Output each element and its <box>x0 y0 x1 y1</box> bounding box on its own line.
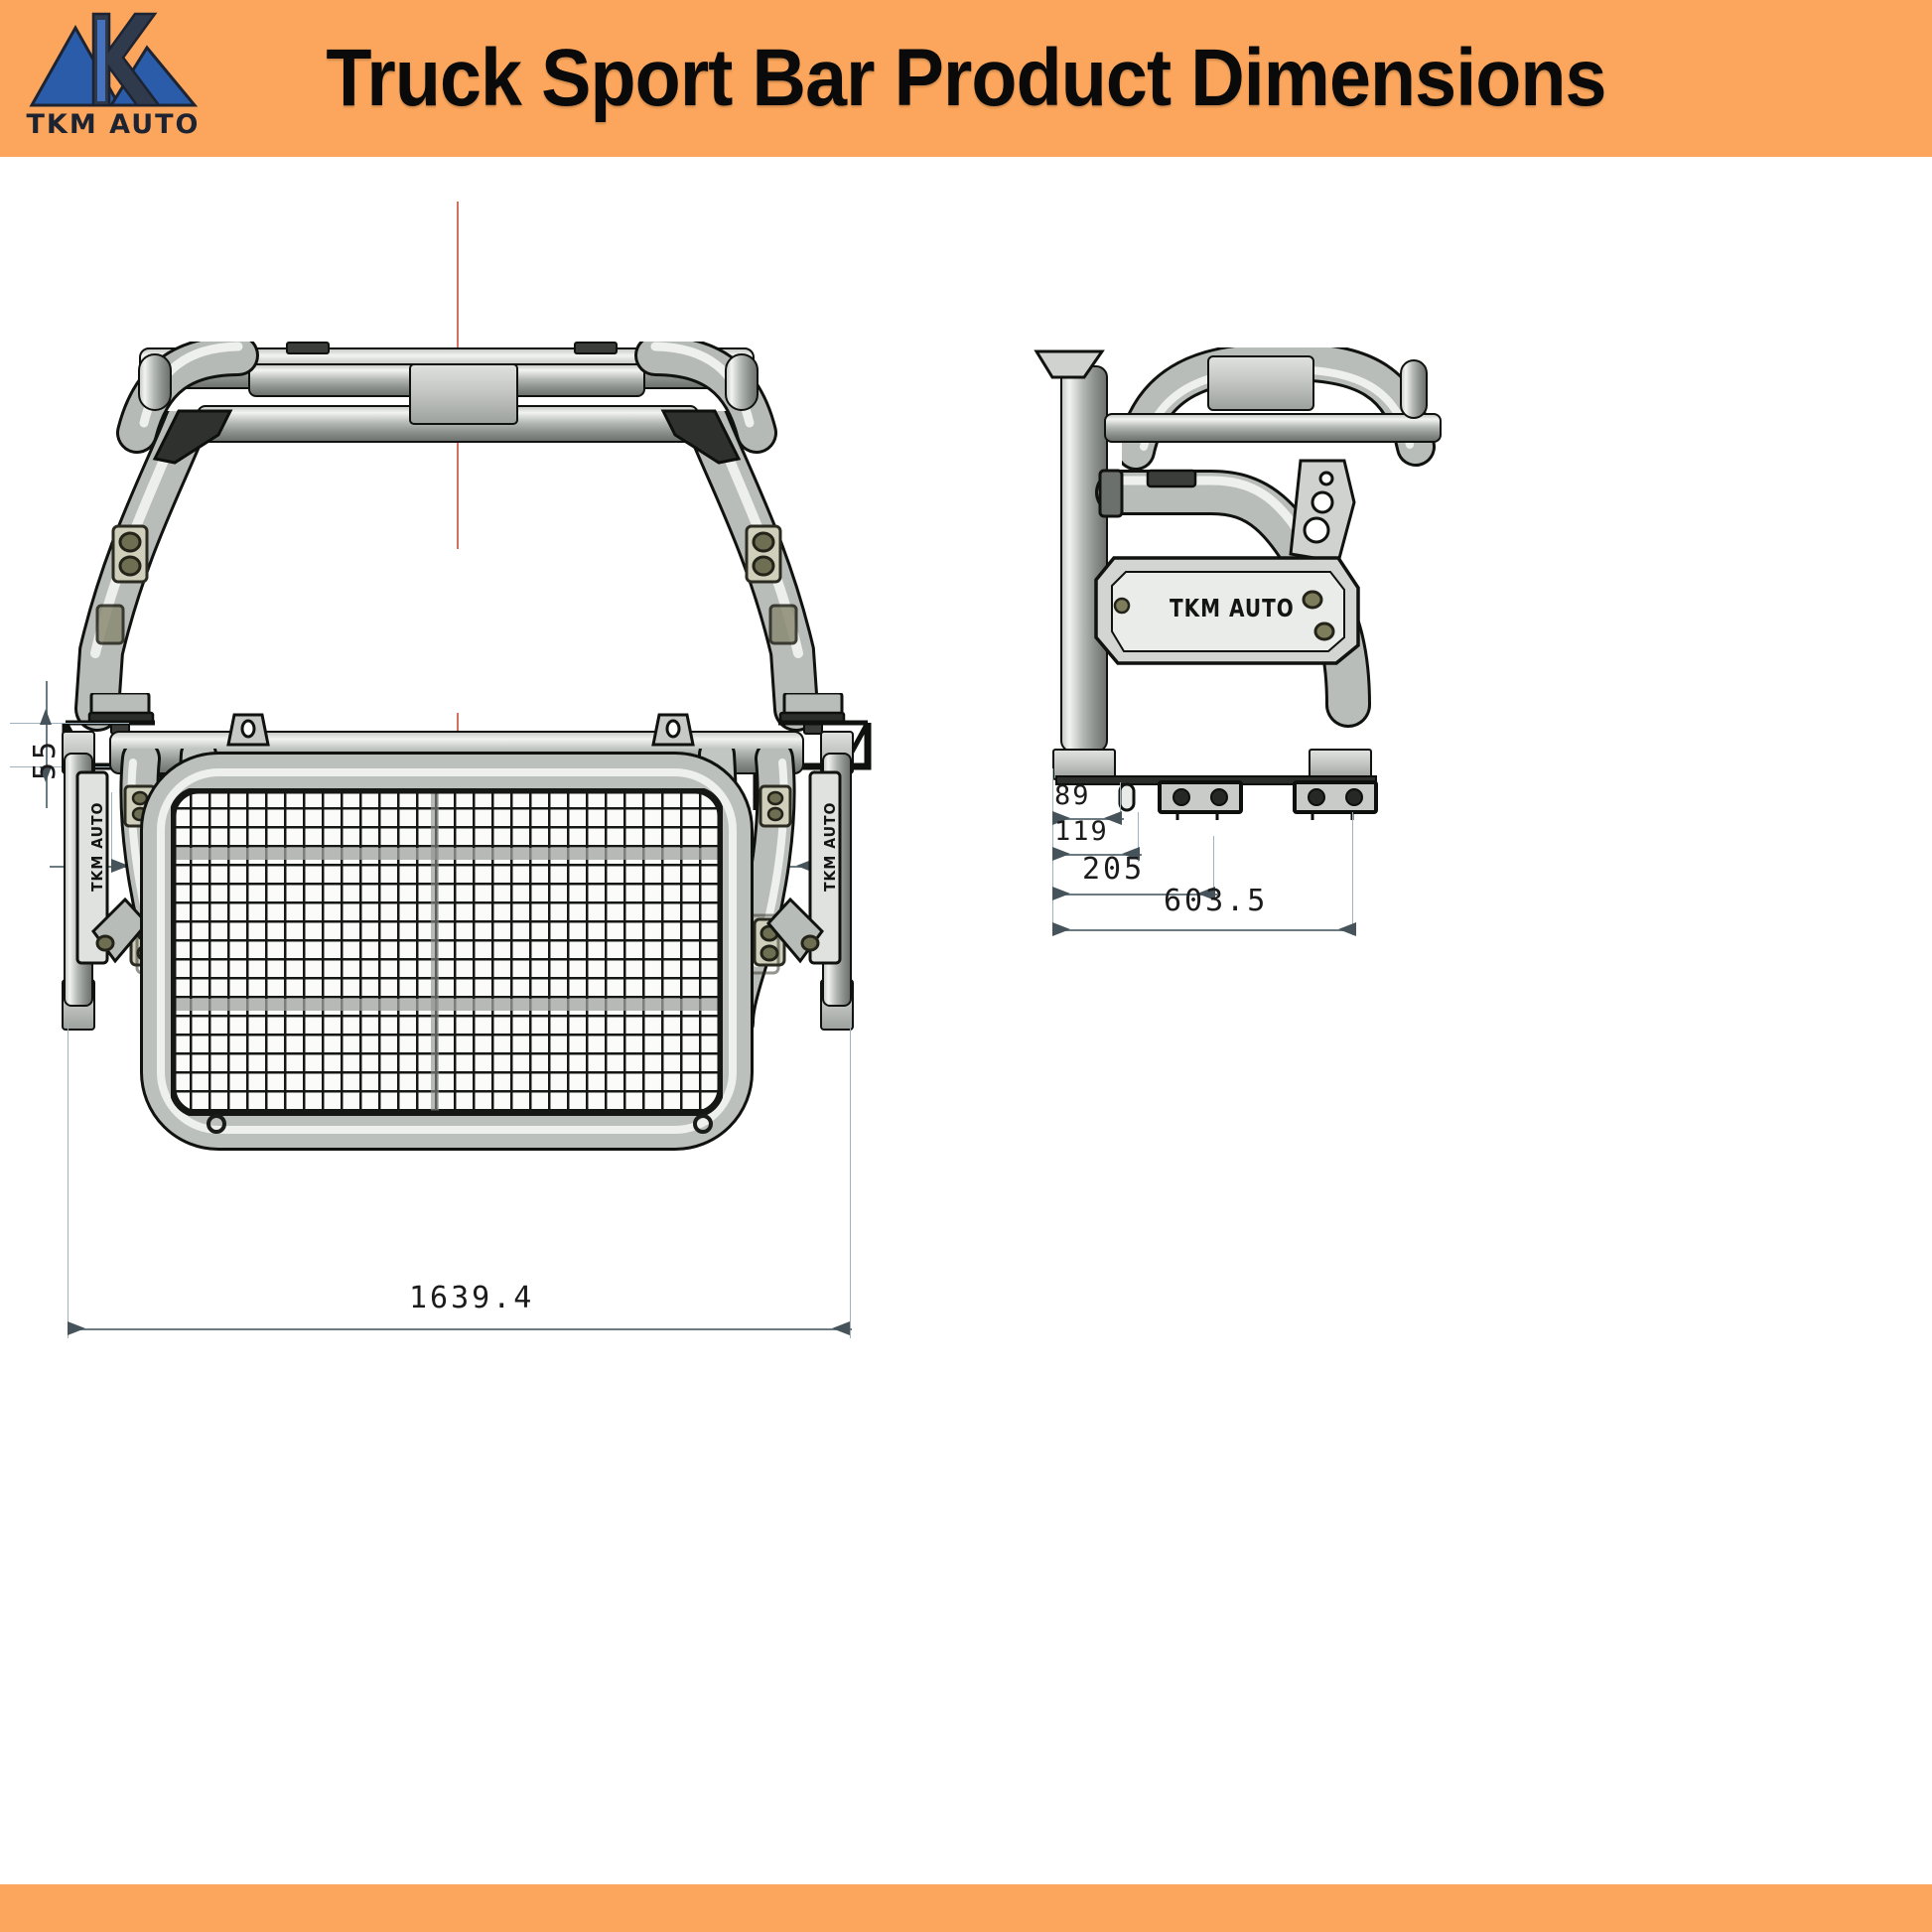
ext-6035-right <box>1352 812 1353 935</box>
arrow-16394-left <box>68 1321 85 1335</box>
dim-16394-label: 1639.4 <box>409 1281 534 1315</box>
right-joint-bracket <box>655 401 745 471</box>
plan-mesh-panel <box>171 788 723 1116</box>
dim-119-label: 119 <box>1054 816 1109 847</box>
arrow-119-left <box>1052 847 1070 861</box>
footer-banner <box>0 1884 1932 1932</box>
side-rear-pipe-cap <box>1033 347 1122 387</box>
ext-55-top <box>10 723 129 724</box>
drawing-canvas: 55 95 1450 ±70 mm <box>0 157 1932 1884</box>
side-lateral-rail <box>1104 413 1442 443</box>
side-center-plate <box>1207 355 1314 411</box>
plan-fastener-left <box>195 1102 254 1162</box>
dim-205-label: 205 <box>1082 852 1145 887</box>
side-right-end-tube <box>1400 359 1428 419</box>
arrow-16394-right <box>832 1321 850 1335</box>
arrow-55-top <box>40 709 52 725</box>
side-brand-plate-text: TKM AUTO <box>1170 593 1295 622</box>
dim-89-label: 89 <box>1054 780 1091 811</box>
ext-16394-left <box>68 1021 69 1338</box>
dimline-6035 <box>1052 929 1356 931</box>
ext-16394-right <box>850 1021 851 1338</box>
plan-tab-left <box>220 709 276 747</box>
arrow-205-left <box>1052 887 1070 900</box>
plan-tab-right <box>645 709 701 747</box>
plan-fastener-right <box>681 1102 741 1162</box>
arrow-6035-right <box>1338 922 1356 936</box>
page-title: Truck Sport Bar Product Dimensions <box>77 0 1855 157</box>
left-joint-bracket <box>149 401 238 471</box>
dimline-16394 <box>68 1328 852 1330</box>
center-mount-plate <box>409 363 518 425</box>
arrow-6035-left <box>1052 922 1070 936</box>
dim-6035-label: 603.5 <box>1164 884 1268 918</box>
header-banner: TKM AUTO Truck Sport Bar Product Dimensi… <box>0 0 1932 157</box>
top-tab-left <box>286 342 330 354</box>
plan-right-bracket-detail <box>755 772 874 1001</box>
